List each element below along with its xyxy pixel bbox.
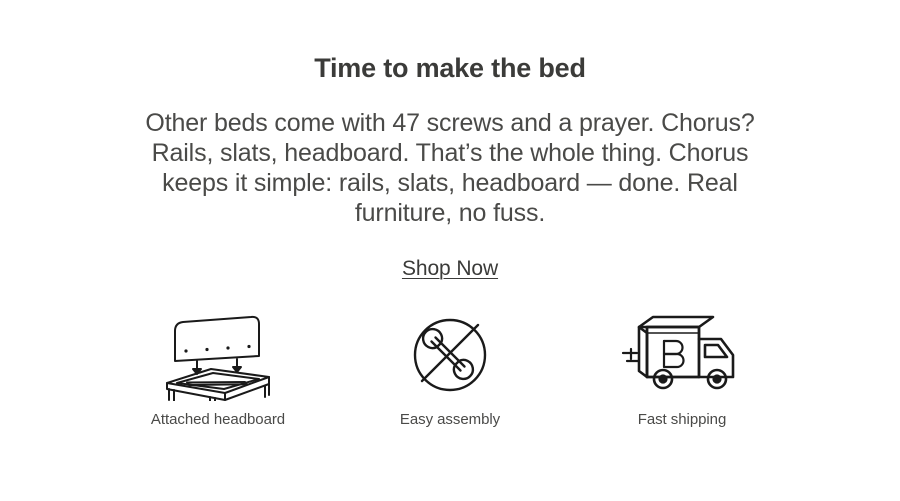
page-title: Time to make the bed (314, 0, 586, 84)
promo-section: Time to make the bed Other beds come wit… (0, 0, 900, 501)
feature-item: Attached headboard (102, 309, 334, 428)
feature-label: Fast shipping (638, 411, 727, 428)
delivery-truck-icon (617, 309, 747, 401)
feature-item: Fast shipping (566, 309, 798, 428)
feature-list: Attached headboard (0, 309, 900, 428)
feature-item: Easy assembly (334, 309, 566, 428)
feature-label: Attached headboard (151, 411, 285, 428)
no-tools-wrench-icon (404, 309, 496, 401)
shop-now-link[interactable]: Shop Now (402, 257, 498, 281)
cta-container: Shop Now (0, 228, 900, 281)
bed-headboard-icon (153, 309, 283, 401)
body-copy: Other beds come with 47 screws and a pra… (127, 84, 773, 228)
feature-label: Easy assembly (400, 411, 500, 428)
